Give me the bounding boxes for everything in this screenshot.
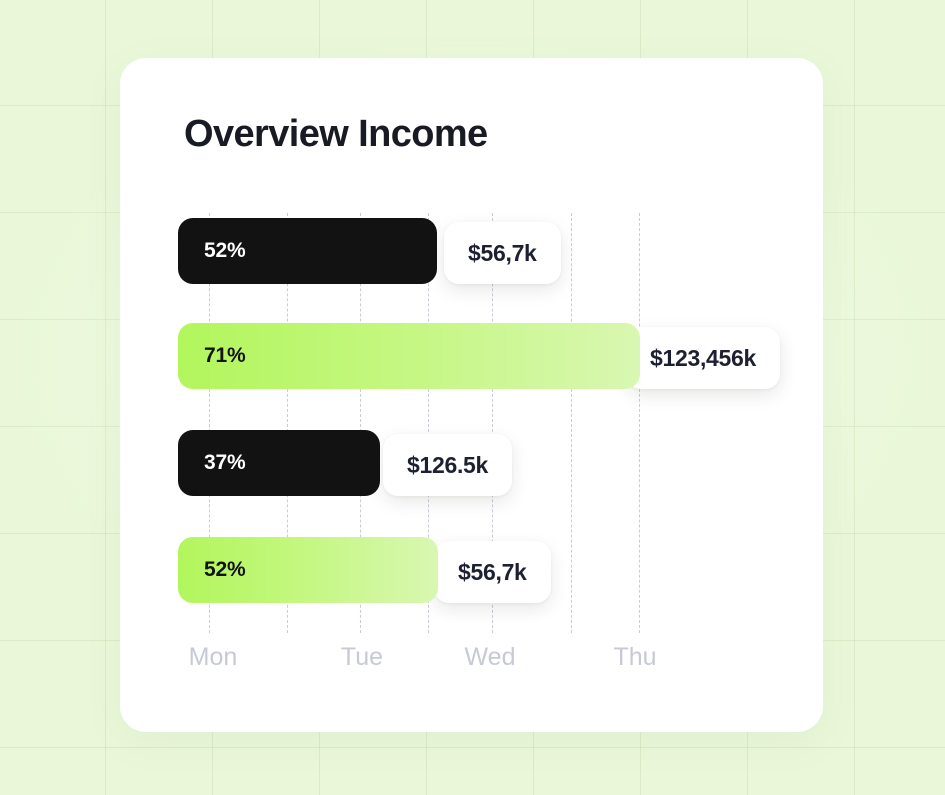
bar-chart: $56,7k52%$123,456k71%$126.5k37%$56,7k52%… [178, 213, 768, 688]
page-title: Overview Income [184, 113, 488, 156]
bar-value-label: $56,7k [468, 240, 537, 267]
x-axis-label-thu: Thu [613, 643, 656, 672]
bar-value-card: $126.5k [383, 434, 512, 496]
x-axis-label-mon: Mon [189, 643, 238, 672]
bar-percent-label: 52% [178, 239, 245, 263]
bar[interactable]: 52% [178, 218, 437, 284]
x-axis-labels: MonTueWedThu [178, 643, 768, 685]
bar-value-label: $123,456k [650, 345, 756, 372]
bar[interactable]: 52% [178, 537, 438, 603]
bar-value-card: $56,7k [434, 541, 551, 603]
bar-value-card: $123,456k [626, 327, 780, 389]
bar-row[interactable]: $56,7k52% [178, 218, 768, 284]
bar-value-label: $126.5k [407, 452, 488, 479]
bar-value-card: $56,7k [444, 222, 561, 284]
bar-percent-label: 52% [178, 558, 245, 582]
overview-income-card: Overview Income $56,7k52%$123,456k71%$12… [120, 58, 823, 732]
bar[interactable]: 71% [178, 323, 640, 389]
bar-row[interactable]: $126.5k37% [178, 430, 768, 496]
bar-percent-label: 71% [178, 344, 245, 368]
x-axis-label-wed: Wed [465, 643, 516, 672]
bar[interactable]: 37% [178, 430, 380, 496]
x-axis-label-tue: Tue [341, 643, 383, 672]
bar-percent-label: 37% [178, 451, 245, 475]
bar-row[interactable]: $123,456k71% [178, 323, 768, 389]
bar-value-label: $56,7k [458, 559, 527, 586]
bar-row[interactable]: $56,7k52% [178, 537, 768, 603]
